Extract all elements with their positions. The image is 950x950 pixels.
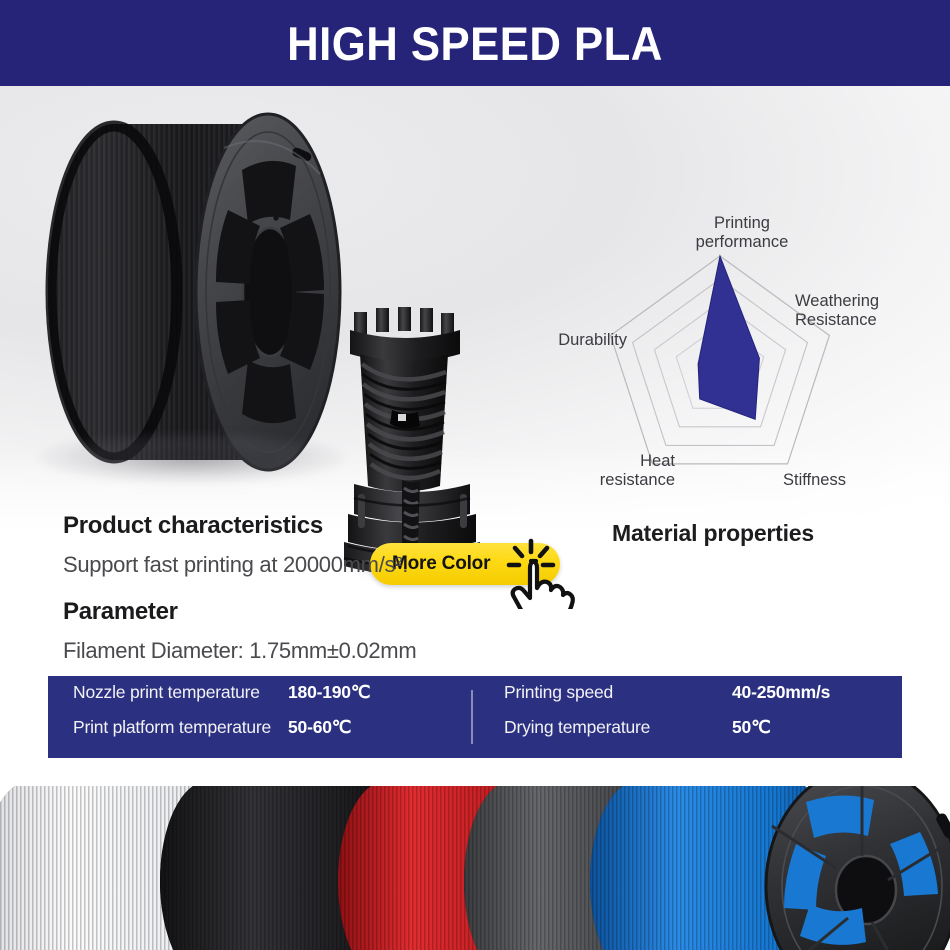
rook-model-graphic — [340, 302, 486, 582]
spool-variant-blue-front — [766, 786, 950, 950]
radar-axis-label-stiffness: Stiffness — [783, 471, 913, 490]
spec-row-nozzle-print-temperature: Nozzle print temperature 180-190℃ — [73, 682, 471, 717]
characteristics-title: Product characteristics — [63, 512, 323, 540]
specifications-table: Nozzle print temperature 180-190℃ Print … — [48, 676, 902, 758]
hero-product-photo-area: Printing performance Weathering Resistan… — [0, 86, 950, 566]
spec-row-printing-speed: Printing speed 40-250mm/s — [504, 682, 902, 717]
spec-row-drying-temperature: Drying temperature 50℃ — [504, 717, 902, 752]
characteristics-body: Support fast printing at 20000mm/s². — [63, 552, 408, 578]
page-title: HIGH SPEED PLA — [287, 16, 663, 71]
spec-key: Nozzle print temperature — [73, 682, 288, 703]
product-infographic: HIGH SPEED PLA — [0, 0, 950, 950]
parameter-body: Filament Diameter: 1.75mm±0.02mm — [63, 638, 416, 664]
spec-column-left: Nozzle print temperature 180-190℃ Print … — [48, 676, 471, 758]
spec-key: Drying temperature — [504, 717, 732, 738]
page-header-banner: HIGH SPEED PLA — [0, 0, 950, 86]
color-variants-strip — [0, 786, 950, 950]
radar-grid — [611, 256, 830, 464]
spec-column-divider — [471, 690, 473, 744]
parameter-title: Parameter — [63, 598, 178, 626]
main-filament-spool-image — [28, 102, 358, 502]
spool-shadow — [36, 432, 346, 484]
radar-chart-caption: Material properties — [612, 520, 932, 547]
color-spools-graphic — [0, 786, 950, 950]
radar-axis-label-heat-resistance: Heat resistance — [535, 452, 675, 490]
material-properties-radar-chart: Printing performance Weathering Resistan… — [505, 206, 935, 516]
spec-row-print-platform-temperature: Print platform temperature 50-60℃ — [73, 717, 471, 752]
radar-axis-label-durability: Durability — [507, 331, 627, 350]
printed-sample-model-image — [340, 302, 486, 582]
spec-value: 50℃ — [732, 717, 771, 738]
spec-key: Printing speed — [504, 682, 732, 703]
radar-data-polygon — [698, 256, 759, 419]
spec-value: 40-250mm/s — [732, 682, 830, 703]
spec-key: Print platform temperature — [73, 717, 288, 738]
radar-axis-label-weathering-resistance: Weathering Resistance — [795, 292, 945, 330]
spec-column-right: Printing speed 40-250mm/s Drying tempera… — [471, 676, 902, 758]
spec-value: 50-60℃ — [288, 717, 351, 738]
radar-axis-label-printing-performance: Printing performance — [657, 214, 827, 252]
spec-value: 180-190℃ — [288, 682, 370, 703]
